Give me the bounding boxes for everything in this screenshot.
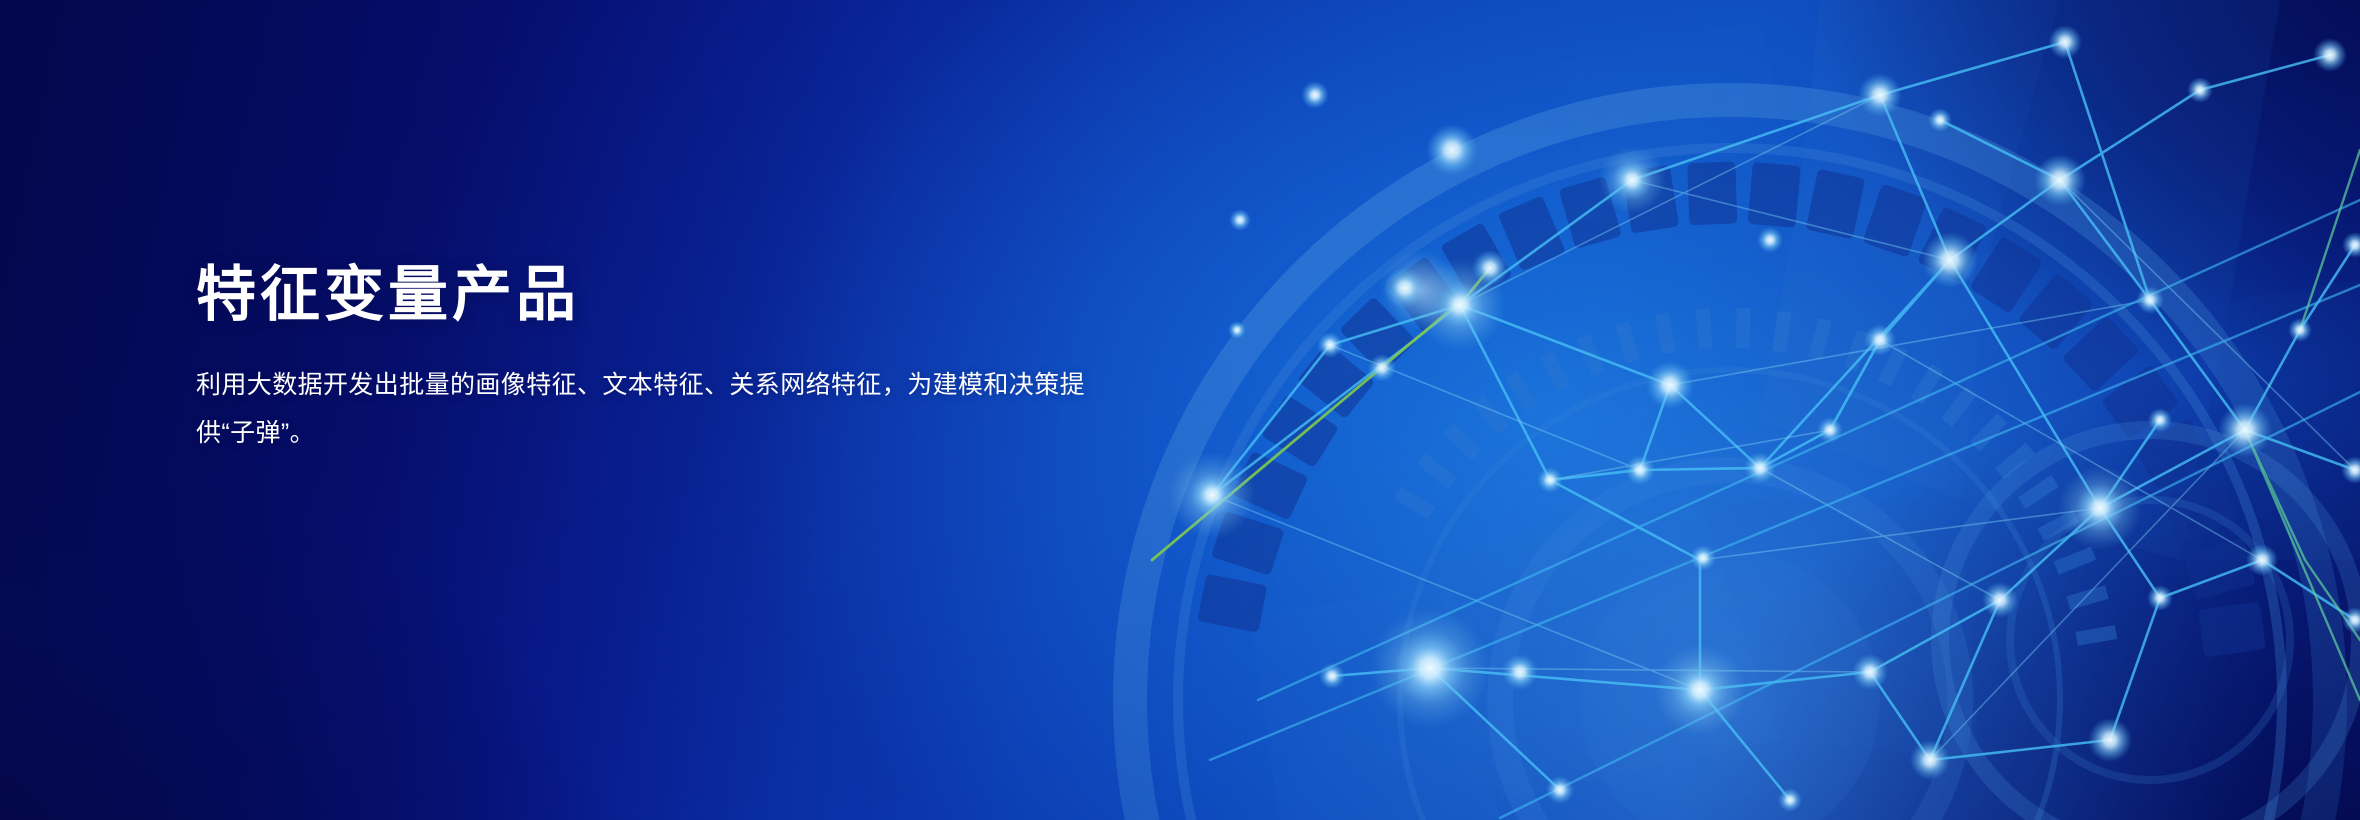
page-subtitle: 利用大数据开发出批量的画像特征、文本特征、关系网络特征，为建模和决策提供“子弹”… — [196, 361, 1136, 457]
page-title: 特征变量产品 — [196, 258, 1156, 331]
hero-copy: 特征变量产品 利用大数据开发出批量的画像特征、文本特征、关系网络特征，为建模和决… — [196, 258, 1156, 457]
hero-banner: 特征变量产品 利用大数据开发出批量的画像特征、文本特征、关系网络特征，为建模和决… — [0, 0, 2360, 820]
